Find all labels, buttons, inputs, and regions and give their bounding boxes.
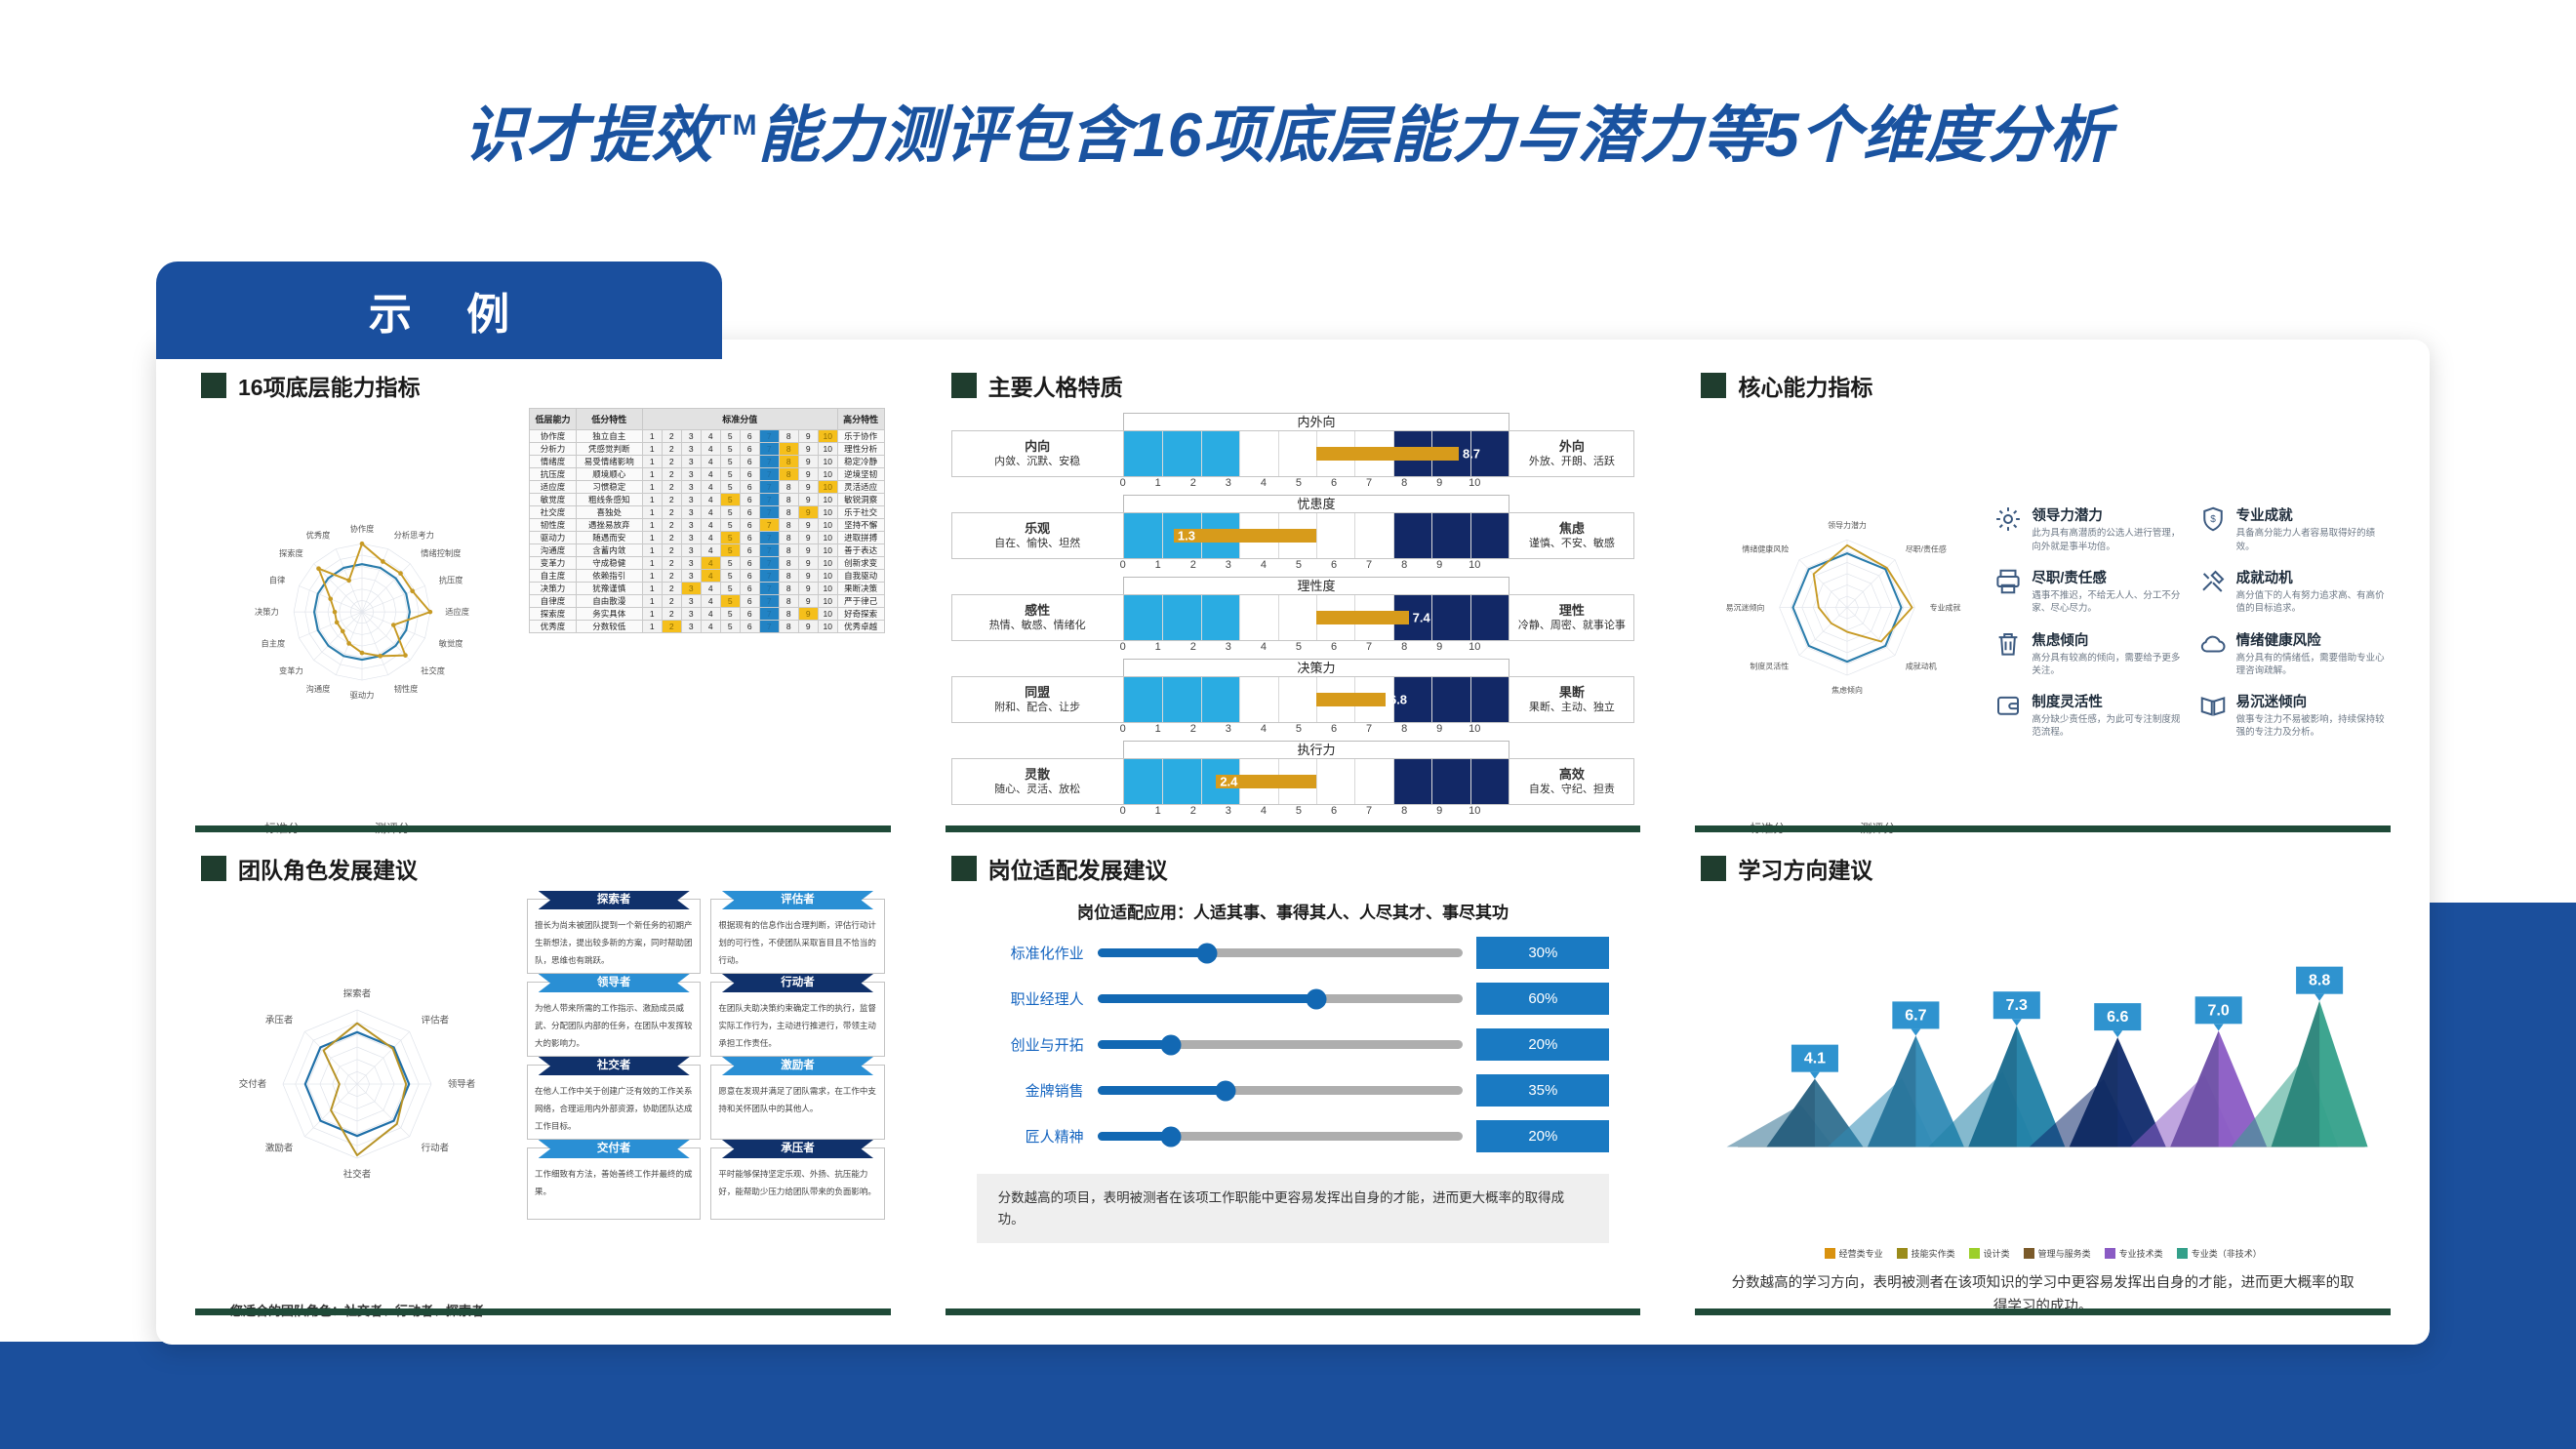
axis-tick: 8 [1387, 805, 1422, 817]
legend-label: 设计类 [1984, 1247, 2010, 1260]
job-fit-track[interactable] [1098, 1132, 1464, 1141]
legend-swatch [1897, 1248, 1908, 1259]
score-cell-ability: 优秀度 [530, 621, 577, 633]
score-cell-value: 1 [642, 456, 662, 468]
score-cell-value: 6 [740, 557, 759, 570]
page-title-suffix: 能力测评包含16项底层能力与潜力等5个维度分析 [758, 101, 2113, 170]
svg-text:承压者: 承压者 [265, 1015, 294, 1026]
personality-left-pole: 内向内敛、沉默、安稳 [951, 430, 1123, 477]
score-cell-value: 5 [720, 506, 740, 519]
score-cell-value: 10 [818, 443, 837, 456]
svg-text:激励者: 激励者 [265, 1143, 294, 1154]
score-cell-value: 7 [759, 519, 779, 532]
axis-tick: 1 [1141, 805, 1176, 817]
score-cell-value: 8 [779, 570, 798, 583]
score-cell-value: 10 [818, 456, 837, 468]
score-cell-value: 9 [798, 544, 818, 557]
score-header-scale: 标准分值 [642, 409, 837, 430]
core-item-name: 专业成就 [2236, 504, 2385, 525]
axis-tick: 8 [1387, 477, 1422, 489]
table-row: 情绪度易受情绪影响12345678910稳定冷静 [530, 456, 885, 468]
core-item-desc: 具备高分能力人者容易取得好的绩效。 [2236, 527, 2385, 553]
score-cell-value: 10 [818, 595, 837, 608]
axis-tick: 7 [1351, 805, 1387, 817]
score-cell-ability: 分析力 [530, 443, 577, 456]
svg-text:适应度: 适应度 [445, 607, 469, 617]
core-competency-item: 领导力潜力此为具有高潜质的公选人进行管理，向外就是事半功倍。 [1993, 504, 2180, 553]
svg-text:领导者: 领导者 [448, 1078, 476, 1090]
score-cell-value: 10 [818, 519, 837, 532]
score-cell-value: 3 [681, 506, 701, 519]
radar-16-abilities: 协作度分析思考力情绪控制度抗压度适应度敏觉度社交度韧性度驱动力沟通度变革力自主度… [201, 408, 523, 836]
legend-item: 专业类（非技术） [2177, 1247, 2262, 1260]
score-cell-value: 9 [798, 443, 818, 456]
svg-text:领导力潜力: 领导力潜力 [1828, 520, 1867, 530]
job-fit-percent: 20% [1476, 1120, 1609, 1152]
table-row: 驱动力随遇而安12345678910进取拼搏 [530, 532, 885, 544]
score-cell-value: 2 [662, 494, 681, 506]
legend-item: 经营类专业 [1825, 1247, 1883, 1260]
job-fit-knob[interactable] [1160, 1034, 1181, 1055]
role-card-ribbon: 探索者 [539, 891, 690, 909]
core-item-desc: 高分值下的人有努力追求高、有高价值的目标追求。 [2236, 589, 2385, 616]
score-cell-value: 7 [759, 570, 779, 583]
score-cell-high: 创新求变 [837, 557, 884, 570]
score-cell-value: 2 [662, 430, 681, 443]
score-cell-value: 10 [818, 468, 837, 481]
score-cell-value: 2 [662, 595, 681, 608]
core-competency-list: 领导力潜力此为具有高潜质的公选人进行管理，向外就是事半功倍。$专业成就具备高分能… [1993, 408, 2385, 836]
score-cell-value: 10 [818, 583, 837, 595]
job-fit-percent: 35% [1476, 1074, 1609, 1107]
example-tab[interactable]: 示 例 [156, 262, 722, 359]
personality-right-pole: 焦虑谨慎、不安、敏感 [1509, 512, 1634, 559]
panel-title-16-abilities: 16项底层能力指标 [238, 369, 421, 402]
panel-title-learning: 学习方向建议 [1738, 852, 1872, 885]
job-fit-knob[interactable] [1197, 943, 1218, 963]
score-cell-value: 2 [662, 481, 681, 494]
role-card-area: 探索者擅长为尚未被团队提到一个新任务的初期产生新想法，提出较多新的方案，同时帮助… [513, 891, 885, 1319]
panel-marker-square [1701, 373, 1726, 398]
svg-text:社交度: 社交度 [421, 665, 445, 675]
score-cell-value: 7 [759, 506, 779, 519]
role-card-desc: 根据现有的信息作出合理判断，评估行动计划的可行性，不使团队采取盲目且不恰当的行动… [718, 920, 876, 965]
score-cell-ability: 决策力 [530, 583, 577, 595]
score-cell-value: 10 [818, 621, 837, 633]
axis-tick: 2 [1176, 559, 1211, 571]
score-cell-value: 1 [642, 621, 662, 633]
score-cell-ability: 社交度 [530, 506, 577, 519]
score-cell-value: 9 [798, 481, 818, 494]
score-cell-high: 坚持不懈 [837, 519, 884, 532]
score-cell-value: 9 [798, 456, 818, 468]
job-fit-slider-row[interactable]: 金牌销售35% [977, 1074, 1610, 1107]
job-fit-label: 创业与开拓 [977, 1034, 1084, 1055]
role-card-ribbon: 交付者 [539, 1140, 690, 1158]
score-cell-value: 7 [759, 468, 779, 481]
role-card: 探索者擅长为尚未被团队提到一个新任务的初期产生新想法，提出较多新的方案，同时帮助… [527, 899, 701, 974]
job-fit-heading: 岗位适配应用：人适其事、事得其人、人尽其才、事尽其功 [977, 899, 1610, 923]
role-card-desc: 工作细致有方法，善始善终工作并最终的成果。 [535, 1169, 693, 1196]
job-fit-fill [1098, 994, 1317, 1003]
page-title: 识才提效TM能力测评包含16项底层能力与潜力等5个维度分析 [0, 86, 2576, 175]
axis-tick: 5 [1281, 559, 1316, 571]
score-cell-value: 5 [720, 456, 740, 468]
score-cell-value: 7 [759, 430, 779, 443]
table-row: 沟通度含蓄内敛12345678910善于表达 [530, 544, 885, 557]
score-cell-low: 分数较低 [576, 621, 642, 633]
role-card: 评估者根据现有的信息作出合理判断，评估行动计划的可行性，不使团队采取盲目且不恰当… [710, 899, 884, 974]
job-fit-knob[interactable] [1160, 1126, 1181, 1147]
score-cell-low: 习惯稳定 [576, 481, 642, 494]
panel-16-abilities: 16项底层能力指标 协作度分析思考力情绪控制度抗压度适应度敏觉度社交度韧性度驱动… [185, 365, 901, 836]
score-cell-ability: 协作度 [530, 430, 577, 443]
svg-text:6.6: 6.6 [2107, 1009, 2128, 1026]
core-item-desc: 高分缺少责任感，为此可专注制度规范流程。 [2032, 713, 2180, 740]
wallet-icon [1993, 691, 2023, 720]
score-cell-value: 4 [701, 494, 720, 506]
job-fit-note: 分数越高的项目，表明被测者在该项工作职能中更容易发挥出自身的才能，进而更大概率的… [977, 1174, 1610, 1243]
legend-label: 技能实作类 [1912, 1247, 1955, 1260]
axis-tick: 6 [1316, 805, 1351, 817]
score-cell-value: 4 [701, 443, 720, 456]
score-cell-value: 9 [798, 519, 818, 532]
role-card-desc: 在他人工作中关于创建广泛有效的工作关系网络，合理运用内外部资源，协助团队达成工作… [535, 1086, 693, 1131]
axis-tick: 3 [1211, 477, 1246, 489]
axis-tick: 4 [1246, 559, 1281, 571]
zone-low [1124, 677, 1239, 722]
personality-axis: 012345678910 [1123, 559, 1510, 571]
personality-value-number: 6.8 [1389, 693, 1407, 707]
role-card-desc: 在团队夫助决策约束确定工作的执行，监督实际工作行为，主动进行推进行，带领主动承担… [718, 1003, 876, 1048]
learning-chart-legend: 经营类专业技能实作类设计类管理与服务类专业技术类专业类（非技术） [1701, 1247, 2385, 1260]
score-cell-value: 3 [681, 456, 701, 468]
axis-tick: 3 [1211, 641, 1246, 653]
axis-tick: 1 [1141, 641, 1176, 653]
score-cell-value: 2 [662, 608, 681, 621]
panel-core-competency: 核心能力指标 领导力潜力尽职/责任感专业成就成就动机焦虑倾向制度灵活性易沉迷倾向… [1685, 365, 2400, 836]
core-competency-item: 尽职/责任感遇事不推迟，不给无人人、分工不分家、尽心尽力。 [1993, 567, 2180, 616]
svg-text:6.7: 6.7 [1906, 1007, 1927, 1024]
shield-dollar-icon: $ [2198, 504, 2228, 534]
score-cell-value: 1 [642, 608, 662, 621]
score-cell-value: 4 [701, 456, 720, 468]
legend-item: 设计类 [1969, 1247, 2010, 1260]
axis-tick: 3 [1211, 723, 1246, 735]
job-fit-label: 标准化作业 [977, 943, 1084, 963]
legend-swatch [1969, 1248, 1980, 1259]
job-fit-knob[interactable] [1307, 988, 1327, 1009]
score-cell-ability: 沟通度 [530, 544, 577, 557]
radar-core-svg: 领导力潜力尽职/责任感专业成就成就动机焦虑倾向制度灵活性易沉迷倾向情绪健康风险 [1701, 408, 1993, 825]
trash-icon [1993, 629, 2023, 659]
table-row: 探索度务实具体12345678910好奇探索 [530, 608, 885, 621]
axis-tick: 6 [1316, 559, 1351, 571]
score-cell-value: 6 [740, 544, 759, 557]
role-card-ribbon: 激励者 [722, 1057, 873, 1075]
job-fit-slider-row[interactable]: 职业经理人60% [977, 983, 1610, 1015]
job-fit-track[interactable] [1098, 948, 1464, 957]
panel-rule [1695, 1308, 2391, 1315]
decor-bottom-bar [0, 1342, 2576, 1449]
book-icon [2198, 691, 2228, 720]
score-cell-value: 8 [779, 621, 798, 633]
panel-team-roles: 团队角色发展建议 探索者评估者领导者行动者社交者激励者交付者承压者 您适合的团队… [185, 848, 901, 1319]
job-fit-knob[interactable] [1215, 1080, 1235, 1101]
score-cell-value: 6 [740, 468, 759, 481]
panel-rule [195, 825, 891, 832]
score-cell-low: 自由散漫 [576, 595, 642, 608]
personality-row: 执行力灵散随心、灵活、放松2.4高效自发、守纪、担责012345678910 [951, 742, 1635, 817]
axis-tick: 2 [1176, 723, 1211, 735]
role-card: 社交者在他人工作中关于创建广泛有效的工作关系网络，合理运用内外部资源，协助团队达… [527, 1065, 701, 1140]
core-competency-item: 焦虑倾向高分具有较高的倾向，需要给予更多关注。 [1993, 629, 2180, 678]
panel-marker-square [951, 373, 977, 398]
score-cell-low: 易受情绪影响 [576, 456, 642, 468]
core-competency-item: $专业成就具备高分能力人者容易取得好的绩效。 [2198, 504, 2385, 553]
score-cell-low: 遇挫易放弃 [576, 519, 642, 532]
score-cell-value: 8 [779, 443, 798, 456]
personality-row: 理性度感性热情、敏感、情绪化7.4理性冷静、周密、就事论事01234567891… [951, 578, 1635, 653]
panel-marker-square [201, 856, 226, 881]
score-cell-value: 10 [818, 430, 837, 443]
table-row: 抗压度顺境顺心12345678910逆境坚韧 [530, 468, 885, 481]
role-card-desc: 为他人带来所需的工作指示、激励成员威武、分配团队内部的任务，在团队中发挥较大的影… [535, 1003, 693, 1048]
svg-text:敏觉度: 敏觉度 [439, 639, 463, 649]
score-cell-value: 3 [681, 557, 701, 570]
score-cell-value: 9 [798, 583, 818, 595]
personality-bars: 内外向内向内敛、沉默、安稳8.7外向外放、开朗、活跃012345678910忧患… [951, 408, 1635, 836]
score-cell-value: 6 [740, 481, 759, 494]
score-cell-value: 9 [798, 430, 818, 443]
personality-track: 8.7 [1123, 430, 1510, 477]
axis-tick: 9 [1422, 559, 1457, 571]
score-cell-value: 5 [720, 595, 740, 608]
table-row: 适应度习惯稳定12345678910灵活适应 [530, 481, 885, 494]
score-cell-ability: 敏觉度 [530, 494, 577, 506]
panel-learning-direction: 学习方向建议 4.16.77.36.67.08.8 经营类专业技能实作类设计类管… [1685, 848, 2400, 1319]
axis-tick: 10 [1457, 805, 1492, 817]
score-cell-high: 敏锐洞察 [837, 494, 884, 506]
score-cell-high: 好奇探索 [837, 608, 884, 621]
core-item-name: 尽职/责任感 [2032, 567, 2180, 587]
core-item-desc: 高分具有的情绪低，需要借助专业心理咨询疏解。 [2236, 652, 2385, 678]
table-row: 变革力守成稳健12345678910创新求变 [530, 557, 885, 570]
job-fit-label: 金牌销售 [977, 1080, 1084, 1101]
score-cell-value: 2 [662, 570, 681, 583]
score-cell-value: 2 [662, 583, 681, 595]
score-cell-value: 8 [779, 494, 798, 506]
axis-tick: 8 [1387, 641, 1422, 653]
score-cell-value: 9 [798, 468, 818, 481]
panel-marker-square [201, 373, 226, 398]
score-cell-value: 10 [818, 570, 837, 583]
score-cell-value: 3 [681, 468, 701, 481]
legend-item: 技能实作类 [1897, 1247, 1955, 1260]
score-cell-value: 1 [642, 544, 662, 557]
personality-dimension-label: 忧患度 [1123, 495, 1510, 513]
personality-dimension-label: 理性度 [1123, 577, 1510, 595]
legend-label: 专业技术类 [2119, 1247, 2163, 1260]
table-row: 社交度喜独处12345678910乐于社交 [530, 506, 885, 519]
axis-tick: 1 [1141, 559, 1176, 571]
score-cell-value: 3 [681, 481, 701, 494]
score-cell-value: 7 [759, 621, 779, 633]
role-card-desc: 擅长为尚未被团队提到一个新任务的初期产生新想法，提出较多新的方案，同时帮助团队，… [535, 920, 693, 965]
score-cell-high: 乐于协作 [837, 430, 884, 443]
job-fit-slider-row[interactable]: 创业与开拓20% [977, 1028, 1610, 1061]
zone-low [1124, 595, 1239, 640]
job-fit-slider-row[interactable]: 匠人精神20% [977, 1120, 1610, 1152]
score-cell-value: 5 [720, 608, 740, 621]
axis-tick: 0 [1106, 723, 1141, 735]
legend-swatch [2177, 1248, 2188, 1259]
score-cell-high: 进取拼搏 [837, 532, 884, 544]
svg-text:韧性度: 韧性度 [394, 684, 419, 694]
personality-track: 6.8 [1123, 676, 1510, 723]
score-cell-value: 5 [720, 532, 740, 544]
score-cell-value: 5 [720, 481, 740, 494]
personality-axis: 012345678910 [1123, 477, 1510, 489]
svg-text:情绪健康风险: 情绪健康风险 [1743, 544, 1790, 554]
trademark-mark: TM [713, 109, 757, 141]
score-header-high: 高分特性 [837, 409, 884, 430]
score-cell-low: 顺境顺心 [576, 468, 642, 481]
svg-text:抗压度: 抗压度 [439, 575, 463, 584]
score-cell-value: 10 [818, 506, 837, 519]
core-item-name: 焦虑倾向 [2032, 629, 2180, 650]
axis-tick: 0 [1106, 805, 1141, 817]
zone-high [1393, 759, 1509, 804]
score-cell-value: 10 [818, 481, 837, 494]
score-cell-value: 5 [720, 468, 740, 481]
score-cell-value: 1 [642, 519, 662, 532]
score-cell-low: 凭感觉判断 [576, 443, 642, 456]
core-item-name: 制度灵活性 [2032, 691, 2180, 711]
score-cell-value: 4 [701, 570, 720, 583]
score-cell-value: 3 [681, 430, 701, 443]
score-cell-value: 5 [720, 557, 740, 570]
personality-track: 1.3 [1123, 512, 1510, 559]
legend-item: 管理与服务类 [2024, 1247, 2091, 1260]
score-cell-value: 3 [681, 583, 701, 595]
score-cell-high: 乐于社交 [837, 506, 884, 519]
score-cell-value: 4 [701, 430, 720, 443]
score-cell-value: 5 [720, 621, 740, 633]
job-fit-slider-row[interactable]: 标准化作业30% [977, 937, 1610, 969]
panel-personality: 主要人格特质 内外向内向内敛、沉默、安稳8.7外向外放、开朗、活跃0123456… [936, 365, 1651, 836]
score-cell-value: 3 [681, 608, 701, 621]
score-cell-value: 2 [662, 519, 681, 532]
radar-team-roles: 探索者评估者领导者行动者社交者激励者交付者承压者 您适合的团队角色：社交者、行动… [201, 891, 513, 1319]
score-cell-value: 1 [642, 468, 662, 481]
score-cell-value: 8 [779, 456, 798, 468]
job-fit-label: 职业经理人 [977, 988, 1084, 1009]
score-cell-value: 5 [720, 544, 740, 557]
svg-text:协作度: 协作度 [350, 524, 375, 534]
score-cell-value: 1 [642, 481, 662, 494]
core-competency-item: 情绪健康风险高分具有的情绪低，需要借助专业心理咨询疏解。 [2198, 629, 2385, 678]
panel-title-personality: 主要人格特质 [988, 369, 1123, 402]
score-cell-value: 6 [740, 621, 759, 633]
job-fit-fill [1098, 1086, 1226, 1095]
score-cell-value: 7 [759, 557, 779, 570]
score-cell-ability: 情绪度 [530, 456, 577, 468]
axis-tick: 4 [1246, 477, 1281, 489]
score-cell-ability: 韧性度 [530, 519, 577, 532]
score-cell-value: 4 [701, 583, 720, 595]
score-table: 低层能力低分特性标准分值高分特性协作度独立自主12345678910乐于协作分析… [529, 408, 885, 633]
score-cell-value: 6 [740, 443, 759, 456]
score-cell-value: 8 [779, 430, 798, 443]
score-cell-value: 8 [779, 595, 798, 608]
svg-text:探索者: 探索者 [343, 987, 372, 999]
axis-tick: 1 [1141, 723, 1176, 735]
axis-tick: 2 [1176, 805, 1211, 817]
triangle-chart-svg: 4.16.77.36.67.08.8 [1701, 891, 2385, 1247]
axis-tick: 9 [1422, 723, 1457, 735]
score-cell-value: 7 [759, 481, 779, 494]
score-cell-value: 9 [798, 557, 818, 570]
table-row: 决策力犹豫谨慎12345678910果断决策 [530, 583, 885, 595]
score-cell-value: 5 [720, 430, 740, 443]
job-fit-track[interactable] [1098, 994, 1464, 1003]
svg-text:分析思考力: 分析思考力 [394, 530, 434, 540]
score-cell-value: 6 [740, 506, 759, 519]
personality-row: 忧患度乐观自在、愉快、坦然1.3焦虑谨慎、不安、敏感012345678910 [951, 496, 1635, 571]
personality-dimension-label: 内外向 [1123, 413, 1510, 431]
score-cell-value: 6 [740, 532, 759, 544]
score-cell-ability: 自主度 [530, 570, 577, 583]
personality-row: 决策力同盟附和、配合、让步6.8果断果断、主动、独立012345678910 [951, 660, 1635, 735]
table-row: 自律度自由散漫12345678910严于律己 [530, 595, 885, 608]
axis-tick: 5 [1281, 477, 1316, 489]
score-cell-value: 1 [642, 532, 662, 544]
score-cell-value: 2 [662, 456, 681, 468]
axis-tick: 7 [1351, 723, 1387, 735]
legend-label: 管理与服务类 [2038, 1247, 2091, 1260]
score-cell-value: 2 [662, 544, 681, 557]
axis-tick: 5 [1281, 723, 1316, 735]
score-cell-value: 3 [681, 595, 701, 608]
job-fit-track[interactable] [1098, 1040, 1464, 1049]
svg-text:自主度: 自主度 [261, 639, 285, 649]
score-cell-value: 4 [701, 608, 720, 621]
score-cell-value: 3 [681, 519, 701, 532]
legend-label: 专业类（非技术） [2192, 1247, 2262, 1260]
axis-tick: 1 [1141, 477, 1176, 489]
score-cell-value: 1 [642, 570, 662, 583]
panel-rule [195, 1308, 891, 1315]
svg-text:易沉迷倾向: 易沉迷倾向 [1726, 602, 1765, 612]
svg-text:驱动力: 驱动力 [350, 690, 375, 700]
panel-marker-square [951, 856, 977, 881]
score-cell-value: 1 [642, 443, 662, 456]
svg-text:评估者: 评估者 [422, 1014, 450, 1026]
personality-row: 内外向内向内敛、沉默、安稳8.7外向外放、开朗、活跃012345678910 [951, 414, 1635, 489]
score-cell-ability: 探索度 [530, 608, 577, 621]
score-cell-value: 8 [779, 608, 798, 621]
job-fit-track[interactable] [1098, 1086, 1464, 1095]
personality-value-number: 8.7 [1463, 447, 1480, 462]
score-cell-ability: 变革力 [530, 557, 577, 570]
score-cell-value: 10 [818, 544, 837, 557]
svg-text:成就动机: 成就动机 [1906, 661, 1937, 670]
score-cell-value: 5 [720, 519, 740, 532]
core-item-desc: 此为具有高潜质的公选人进行管理，向外就是事半功倍。 [2032, 527, 2180, 553]
core-item-name: 情绪健康风险 [2236, 629, 2385, 650]
svg-text:探索度: 探索度 [279, 548, 303, 558]
